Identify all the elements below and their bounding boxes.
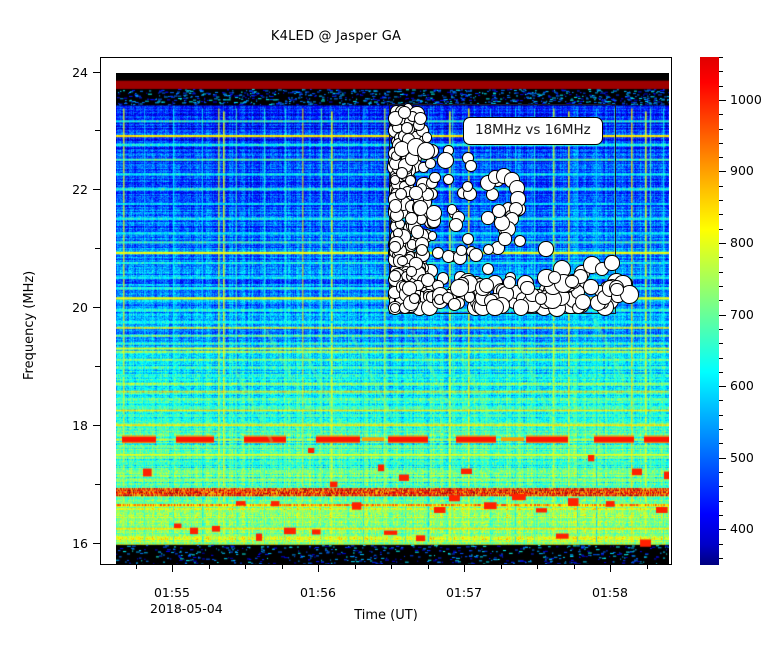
x-tick-label-0157: 01:57 [434, 585, 494, 600]
x-minor-tick [537, 565, 538, 569]
scatter-point [610, 283, 623, 296]
colorbar-minor-tick [719, 515, 723, 516]
x-minor-tick [355, 565, 356, 569]
x-minor-tick [282, 565, 283, 569]
scatter-point [469, 248, 483, 262]
colorbar-major-tick [719, 386, 726, 387]
colorbar-tick-label: 900 [730, 163, 754, 178]
scatter-point [479, 278, 494, 293]
scatter-point [520, 281, 534, 295]
spectrogram-image [116, 73, 669, 565]
scatter-point [389, 241, 401, 253]
x-minor-tick [501, 565, 502, 569]
colorbar[interactable] [700, 57, 719, 565]
scatter-point [565, 275, 579, 289]
colorbar-minor-tick [719, 129, 723, 130]
y-tick-label-18: 18 [48, 418, 88, 433]
colorbar-tick-label: 400 [730, 521, 754, 536]
colorbar-minor-tick [719, 157, 723, 158]
detection-scatter-layer [116, 73, 669, 565]
scatter-point [428, 231, 437, 240]
colorbar-major-tick [719, 243, 726, 244]
colorbar-minor-tick [719, 286, 723, 287]
y-major-tick [93, 543, 100, 544]
colorbar-major-tick [719, 315, 726, 316]
page-title: K4LED @ Jasper GA [0, 29, 672, 44]
scatter-point [465, 160, 477, 172]
y-tick-label-20: 20 [48, 300, 88, 315]
x-major-tick [172, 565, 173, 572]
x-axis-date-label: 2018-05-04 [150, 601, 223, 616]
scatter-point [575, 294, 591, 310]
colorbar-minor-tick [719, 143, 723, 144]
x-tick-label-0158: 01:58 [580, 585, 640, 600]
x-major-tick [464, 565, 465, 572]
scatter-point [389, 199, 403, 213]
scatter-point [417, 142, 435, 160]
colorbar-minor-tick [719, 343, 723, 344]
x-major-tick [318, 565, 319, 572]
y-tick-label-24: 24 [48, 65, 88, 80]
x-minor-tick [245, 565, 246, 569]
colorbar-tick-label: 700 [730, 307, 754, 322]
x-minor-tick [647, 565, 648, 569]
colorbar-minor-tick [719, 429, 723, 430]
y-tick-label-22: 22 [48, 182, 88, 197]
colorbar-minor-tick [719, 400, 723, 401]
x-tick-label-0155: 01:55 [142, 585, 202, 600]
colorbar-minor-tick [719, 329, 723, 330]
scatter-point [450, 279, 469, 298]
figure-canvas: K4LED @ Jasper GA Frequency (MHz) 24 22 … [0, 0, 783, 656]
colorbar-minor-tick [719, 300, 723, 301]
scatter-point [414, 112, 427, 125]
colorbar-major-tick [719, 100, 726, 101]
colorbar-minor-tick [719, 472, 723, 473]
scatter-point [443, 174, 454, 185]
colorbar-minor-tick [719, 358, 723, 359]
colorbar-major-tick [719, 529, 726, 530]
colorbar-minor-tick [719, 486, 723, 487]
y-tick-label-16: 16 [48, 536, 88, 551]
scatter-point [486, 299, 503, 316]
colorbar-minor-tick [719, 415, 723, 416]
scatter-point [462, 233, 474, 245]
y-major-tick [93, 189, 100, 190]
colorbar-minor-tick [719, 200, 723, 201]
scatter-point [456, 245, 466, 255]
colorbar-major-tick [719, 458, 726, 459]
scatter-point [604, 255, 619, 270]
scatter-point [538, 241, 553, 256]
colorbar-minor-tick [719, 558, 723, 559]
colorbar-minor-tick [719, 186, 723, 187]
x-major-tick [610, 565, 611, 572]
colorbar-gradient [700, 57, 719, 565]
annotation-label[interactable]: 18MHz vs 16MHz [463, 117, 603, 145]
colorbar-minor-tick [719, 57, 723, 58]
colorbar-minor-tick [719, 71, 723, 72]
colorbar-minor-tick [719, 372, 723, 373]
x-minor-tick [209, 565, 210, 569]
y-major-tick [93, 425, 100, 426]
scatter-point [397, 256, 407, 266]
scatter-point [548, 271, 561, 284]
scatter-point [449, 218, 463, 232]
colorbar-tick-label: 500 [730, 450, 754, 465]
scatter-point [389, 270, 401, 282]
x-minor-tick [391, 565, 392, 569]
scatter-point [498, 232, 511, 245]
scatter-point [482, 263, 495, 276]
colorbar-tick-label: 1000 [730, 92, 762, 107]
scatter-point [513, 299, 529, 315]
colorbar-minor-tick [719, 114, 723, 115]
x-minor-tick [136, 565, 137, 569]
x-minor-tick [428, 565, 429, 569]
colorbar-minor-tick [719, 229, 723, 230]
colorbar-minor-tick [719, 443, 723, 444]
scatter-point [429, 172, 441, 184]
x-axis-label: Time (UT) [326, 608, 446, 623]
x-minor-tick [574, 565, 575, 569]
y-axis-label: Frequency (MHz) [22, 271, 37, 380]
colorbar-minor-tick [719, 257, 723, 258]
scatter-point [448, 298, 461, 311]
colorbar-minor-tick [719, 501, 723, 502]
scatter-point [411, 225, 425, 239]
colorbar-minor-tick [719, 272, 723, 273]
scatter-point [437, 152, 454, 169]
colorbar-tick-label: 600 [730, 378, 754, 393]
y-major-tick [93, 307, 100, 308]
colorbar-major-tick [719, 171, 726, 172]
colorbar-minor-tick [719, 544, 723, 545]
scatter-point [409, 186, 422, 199]
y-major-tick [93, 72, 100, 73]
x-tick-label-0156: 01:56 [288, 585, 348, 600]
scatter-point [398, 106, 411, 119]
scatter-point [406, 266, 417, 277]
scatter-point [462, 181, 473, 192]
scatter-point [416, 244, 428, 256]
scatter-point [535, 292, 548, 305]
colorbar-minor-tick [719, 86, 723, 87]
scatter-point [514, 235, 526, 247]
colorbar-minor-tick [719, 214, 723, 215]
colorbar-tick-label: 800 [730, 235, 754, 250]
